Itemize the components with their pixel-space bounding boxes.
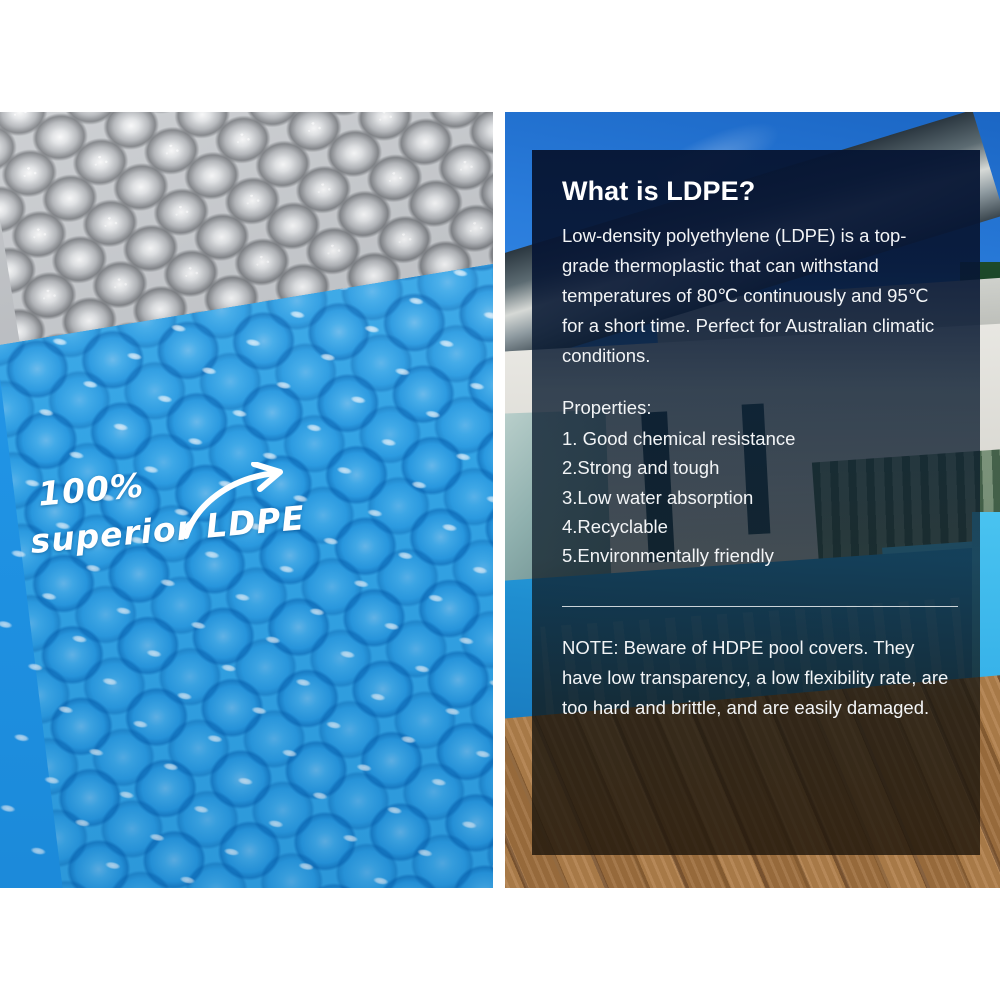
list-item: 4.Recyclable	[562, 512, 950, 541]
left-photo-panel: 100% superior LDPE	[0, 112, 493, 888]
properties-label: Properties:	[562, 393, 950, 422]
infographic-canvas: 100% superior LDPE What is LDPE?	[0, 0, 1000, 1000]
right-info-panel: What is LDPE? Low-density polyethylene (…	[505, 112, 1000, 888]
list-item: 1. Good chemical resistance	[562, 424, 950, 453]
properties-list: 1. Good chemical resistance 2.Strong and…	[562, 424, 950, 570]
list-item: 2.Strong and tough	[562, 453, 950, 482]
info-text-overlay: What is LDPE? Low-density polyethylene (…	[532, 150, 980, 855]
horizontal-divider	[562, 606, 958, 607]
list-item: 5.Environmentally friendly	[562, 541, 950, 570]
overlay-note-paragraph: NOTE: Beware of HDPE pool covers. They h…	[562, 633, 950, 723]
overlay-title: What is LDPE?	[562, 176, 950, 207]
overlay-intro-paragraph: Low-density polyethylene (LDPE) is a top…	[562, 221, 950, 371]
list-item: 3.Low water absorption	[562, 483, 950, 512]
